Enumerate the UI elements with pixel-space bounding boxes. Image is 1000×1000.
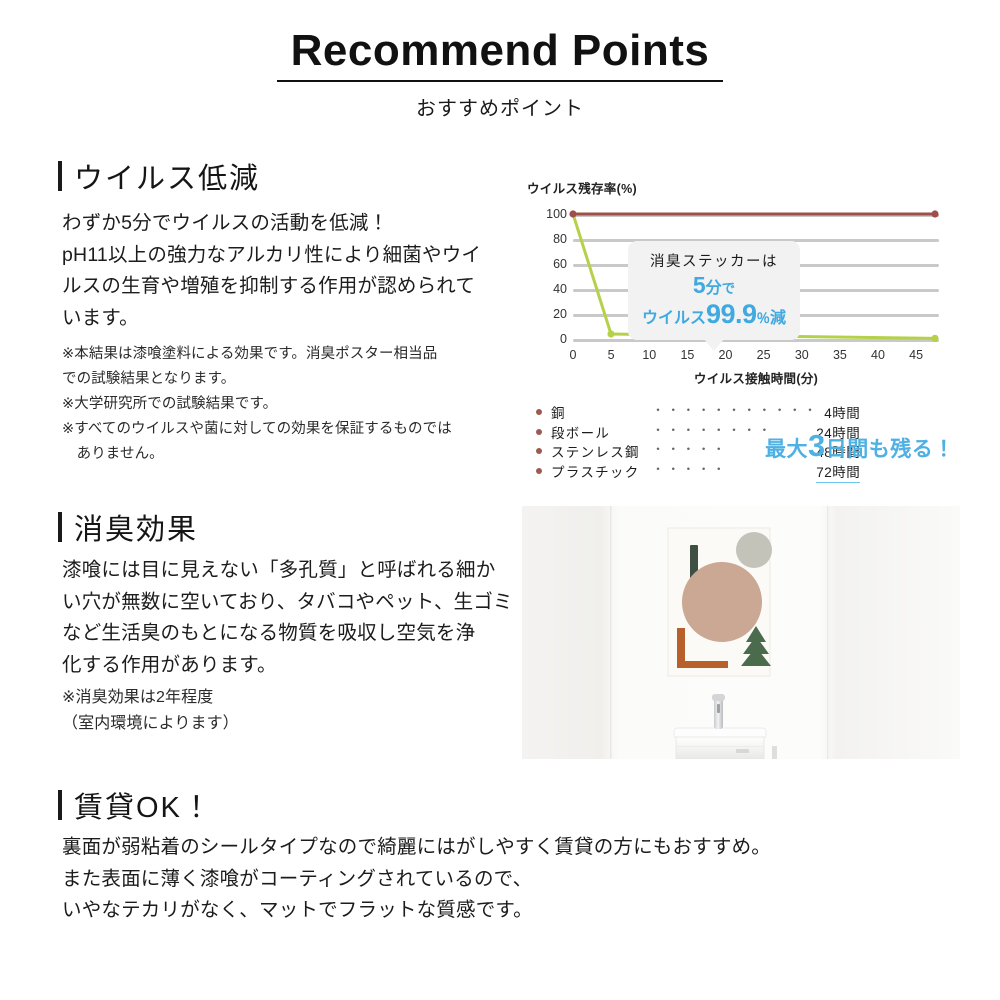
wall-poster (668, 528, 772, 676)
callout-reduce-word: 減 (770, 310, 786, 327)
section-heading-rental-ok: 賃貸OK！ (58, 784, 213, 826)
poster-shape-gray-circle (736, 532, 772, 568)
legend-row: 銅 ・・・・・・・・・・・ 4時間 (536, 402, 860, 422)
legend-item-label: 段ボール (551, 422, 647, 442)
x-tick-25: 25 (757, 348, 771, 362)
toilet-control-panel (736, 749, 749, 753)
legend-item-label: ステンレス鋼 (551, 441, 647, 461)
heading-bar-icon (58, 512, 62, 542)
callout-percent-number: 99.9 (706, 299, 757, 329)
faucet-head (712, 694, 725, 701)
section-notes-virus-reduction: ※本結果は漆喰塗料による効果です。消臭ポスター相当品 での試験結果となります。 … (62, 342, 512, 467)
x-tick-15: 15 (680, 348, 694, 362)
section-title-text: 賃貸OK！ (74, 784, 213, 826)
legend-callout-text: 最大3日間も残る！ (765, 428, 955, 464)
legend-item-label: プラスチック (551, 461, 647, 481)
y-tick-20: 20 (527, 307, 567, 321)
y-tick-0: 0 (527, 332, 567, 346)
section-body-virus-reduction: わずか5分でウイルスの活動を低減！ pH11以上の強力なアルカリ性により細菌やウ… (62, 208, 512, 334)
legend-dot-icon (536, 448, 542, 454)
callout-minutes-number: 5 (693, 272, 706, 298)
floor-pipe (772, 746, 777, 759)
cta-suffix: 日間も残る！ (826, 438, 955, 461)
legend-item-value: 4時間 (824, 402, 860, 422)
series-point-control-start (569, 210, 576, 217)
y-tick-40: 40 (527, 282, 567, 296)
series-point-sticker-5min (607, 330, 614, 337)
heading-bar-icon (58, 161, 62, 191)
section-body-deodorizing: 漆喰には目に見えない「多孔質」と呼ばれる細か い穴が無数に空いており、タバコやペ… (62, 555, 522, 681)
x-tick-10: 10 (642, 348, 656, 362)
callout-minutes-unit: 分 (706, 280, 722, 297)
legend-leader-dots: ・・・・・・・・・・・ (652, 401, 819, 418)
callout-virus-word: ウイルス (642, 310, 706, 327)
section-title-text: 消臭効果 (74, 506, 198, 548)
x-tick-5: 5 (608, 348, 615, 362)
x-tick-35: 35 (833, 348, 847, 362)
callout-percent-sign: ％ (757, 311, 771, 326)
wall-seam-left (610, 506, 611, 759)
legend-dot-icon (536, 409, 542, 415)
chart-callout-bubble: 消臭ステッカーは 5分で ウイルス99.9％減 (628, 241, 800, 340)
bathroom-wall-poster-photo (522, 506, 960, 759)
callout-minutes-suffix: で (722, 281, 736, 296)
legend-item-label: 銅 (551, 402, 647, 422)
page-header: Recommend Points おすすめポイント (0, 28, 1000, 121)
page-subtitle: おすすめポイント (0, 92, 1000, 121)
section-body-rental-ok: 裏面が弱粘着のシールタイプなので綺麗にはがしやすく賃貸の方にもおすすめ。 また表… (62, 832, 942, 927)
section-notes-deodorizing: ※消臭効果は2年程度 （室内環境によります） (62, 685, 522, 736)
y-tick-100: 100 (527, 207, 567, 221)
chart-y-axis-label: ウイルス残存率(%) (527, 178, 637, 197)
toilet-tank-seam (676, 746, 764, 747)
cta-number: 3 (808, 428, 826, 463)
legend-dot-icon (536, 468, 542, 474)
x-tick-40: 40 (871, 348, 885, 362)
y-tick-60: 60 (527, 257, 567, 271)
heading-bar-icon (58, 790, 62, 820)
callout-line3: ウイルス99.9％減 (640, 299, 788, 329)
photo-illustration (522, 506, 960, 759)
section-heading-deodorizing: 消臭効果 (58, 506, 198, 548)
section-heading-virus-reduction: ウイルス低減 (58, 155, 260, 197)
cta-prefix: 最大 (765, 438, 808, 461)
chart-x-axis-label: ウイルス接触時間(分) (573, 368, 939, 387)
x-tick-0: 0 (570, 348, 577, 362)
series-point-control-end (931, 210, 938, 217)
faucet-detail (717, 704, 720, 713)
x-tick-45: 45 (909, 348, 923, 362)
toilet-tank-body (676, 737, 764, 759)
page-title: Recommend Points (277, 28, 724, 82)
y-tick-80: 80 (527, 232, 567, 246)
series-point-sticker-end (931, 335, 938, 342)
toilet-tank-top (674, 728, 766, 738)
callout-line1: 消臭ステッカーは (640, 250, 788, 271)
wall-seam-right (827, 506, 828, 759)
section-title-text: ウイルス低減 (74, 155, 260, 197)
legend-dot-icon (536, 429, 542, 435)
callout-line2: 5分で (640, 273, 788, 299)
x-tick-30: 30 (795, 348, 809, 362)
